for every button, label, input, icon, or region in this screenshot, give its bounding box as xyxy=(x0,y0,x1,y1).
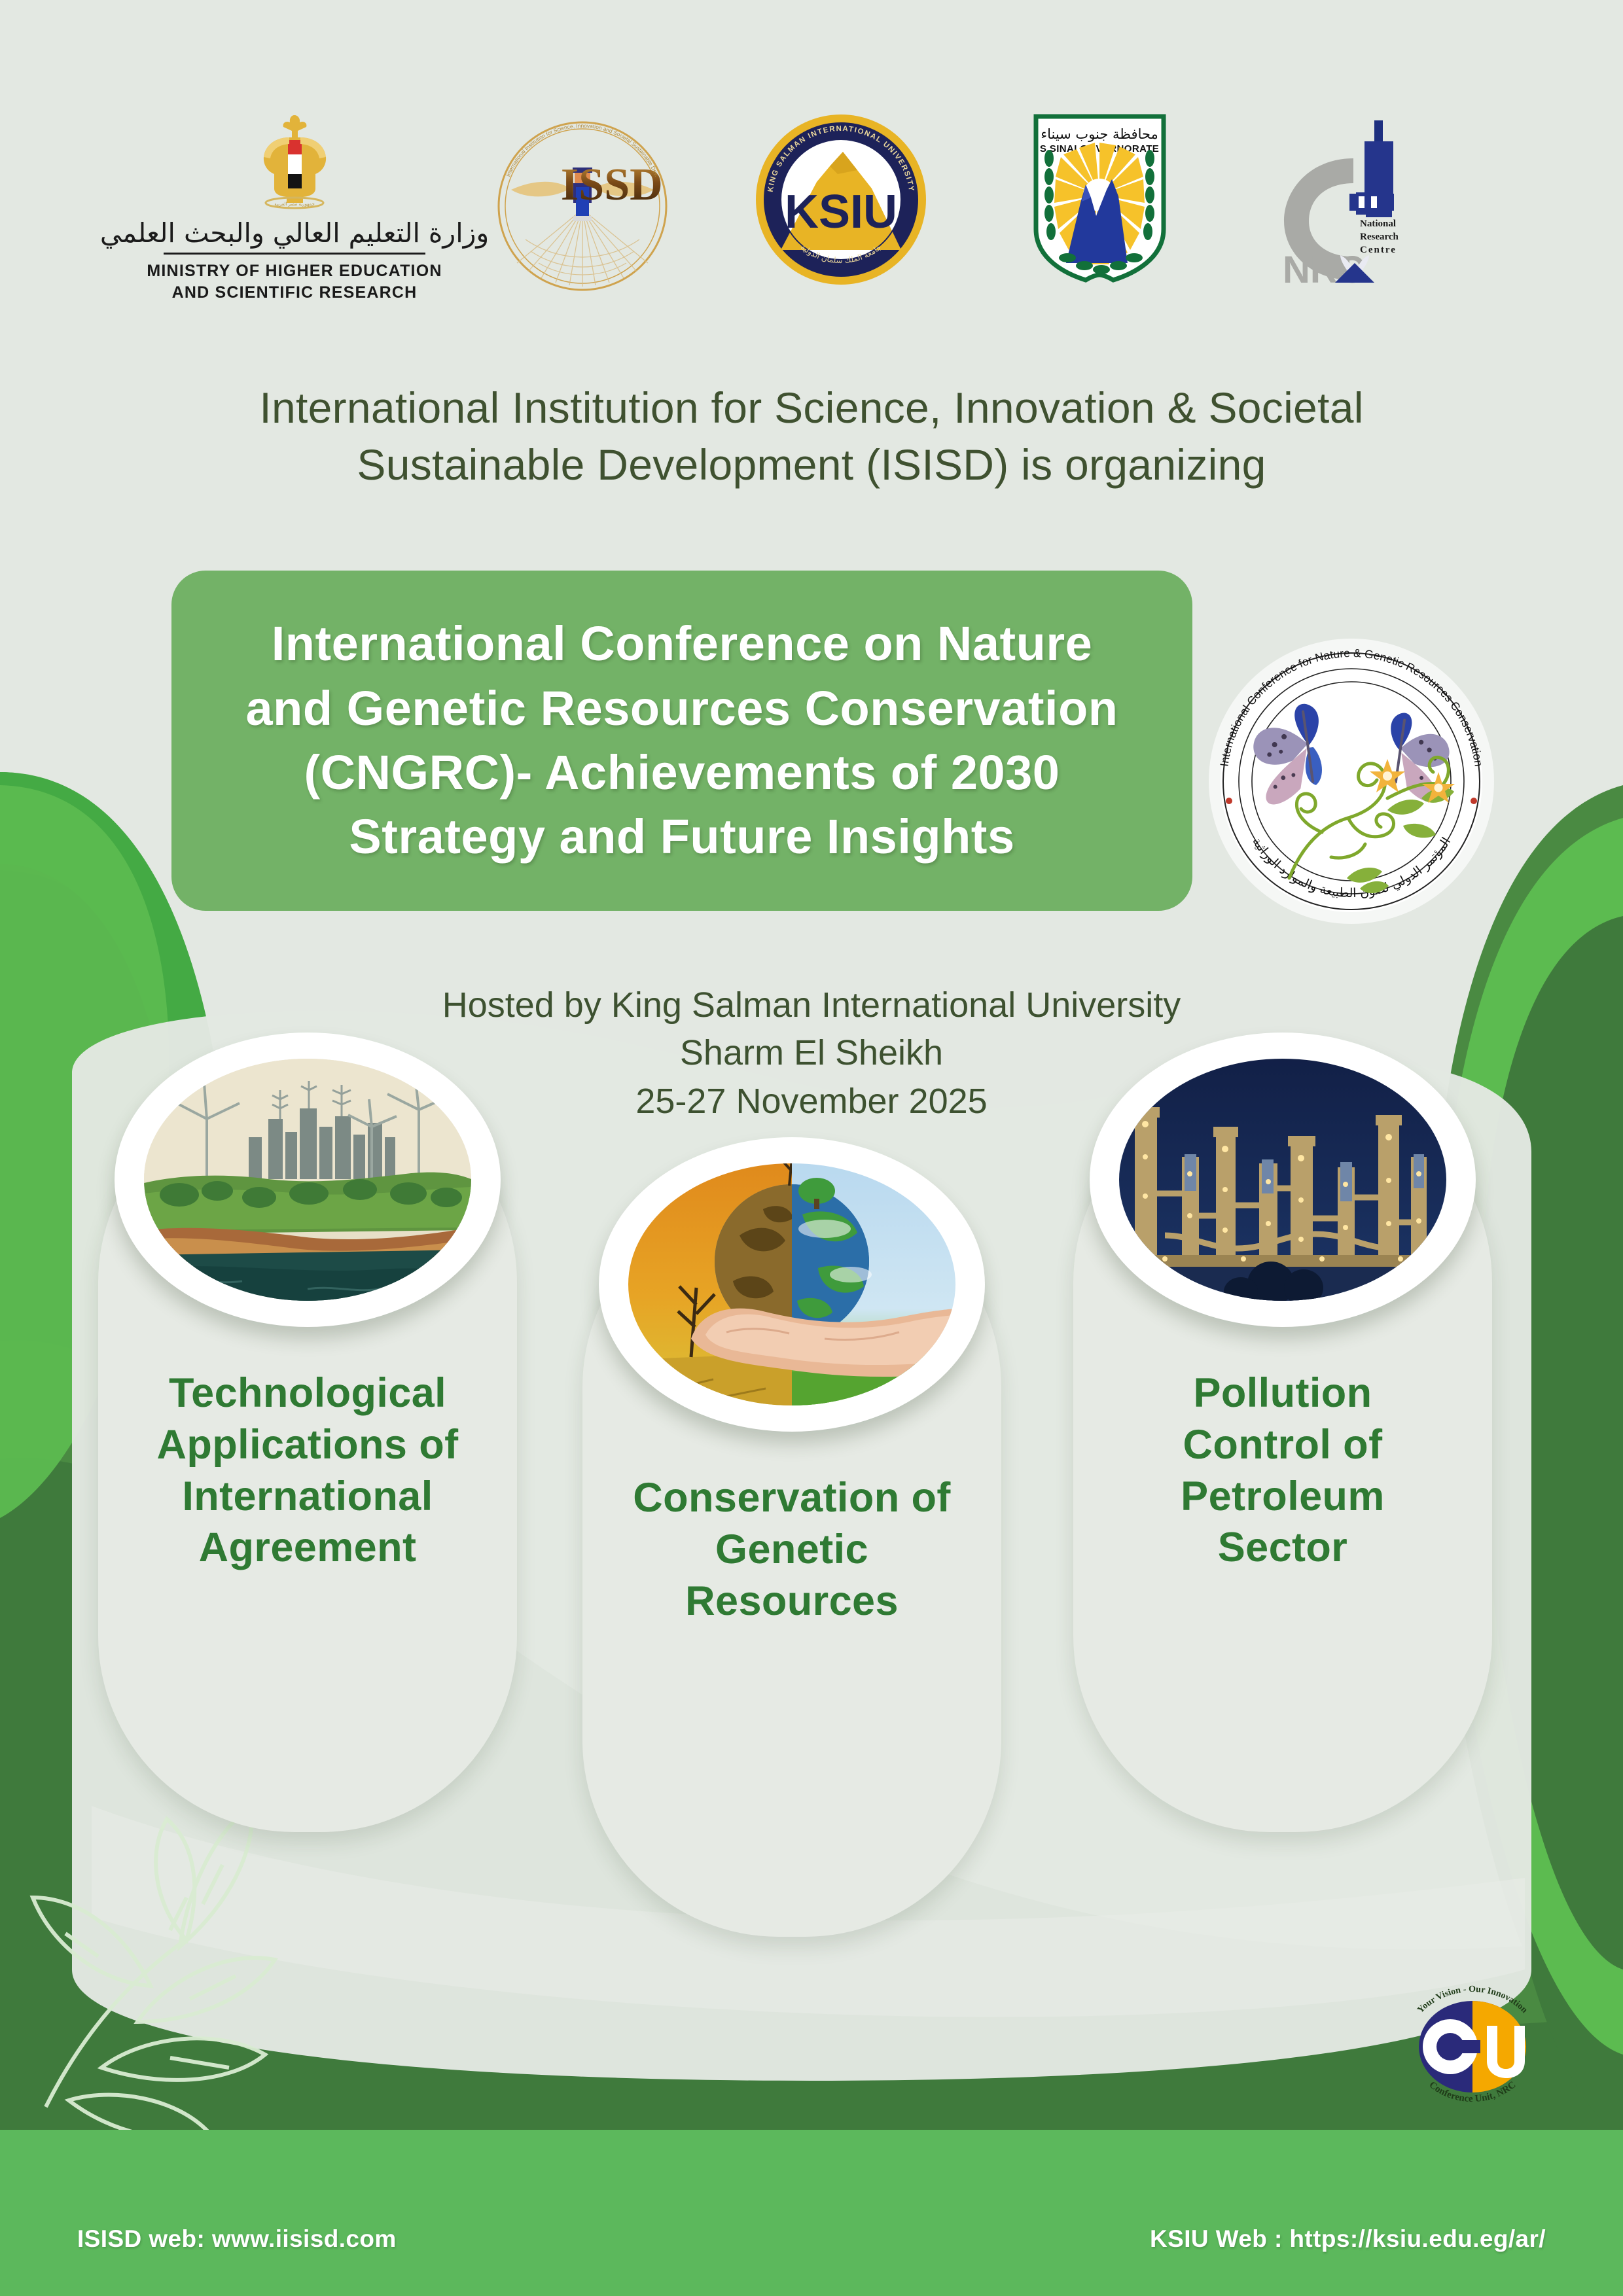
logo-ksiu: KSIU KING SALMAN INTERNATIONAL UNIVERSIT… xyxy=(713,111,969,288)
theme3-line1: Pollution xyxy=(1090,1368,1475,1419)
theme3-line3: Petroleum xyxy=(1090,1471,1475,1523)
svg-text:جمهورية مصر العربية: جمهورية مصر العربية xyxy=(274,202,315,207)
svg-text:IS: IS xyxy=(561,160,604,210)
host-line-1: Hosted by King Salman International Univ… xyxy=(0,981,1623,1029)
theme-title-technological-applications: Technological Applications of Internatio… xyxy=(98,1368,517,1574)
footer-bar: ISISD web: www.iisisd.com KSIU Web : htt… xyxy=(0,2130,1623,2296)
nrc-line1: National xyxy=(1360,219,1396,229)
footer-isisd-website[interactable]: ISISD web: www.iisisd.com xyxy=(77,2225,397,2253)
theme-image-petroleum-refinery xyxy=(1119,1059,1446,1301)
ministry-divider xyxy=(164,253,425,255)
ministry-arabic-name: وزارة التعليم العالي والبحث العلمي xyxy=(100,217,489,249)
intro-line-2: Sustainable Development (ISISD) is organ… xyxy=(0,436,1623,493)
title-line-3: (CNGRC)- Achievements of 2030 xyxy=(200,741,1164,805)
theme-image-green-island xyxy=(144,1059,471,1301)
nrc-logo-icon: National Research Centre NRC xyxy=(1276,111,1440,285)
theme-image-split-earth-in-hand xyxy=(628,1163,955,1405)
page-title: International Conference on Nature and G… xyxy=(200,612,1164,870)
conference-unit-nrc-logo-icon: Your Vision - Our Innovation Conference … xyxy=(1394,1969,1551,2120)
logo-national-research-centre: National Research Centre NRC xyxy=(1230,111,1486,285)
nrc-line2: Research xyxy=(1360,232,1399,242)
theme2-line3: Resources xyxy=(599,1576,984,1627)
ksiu-badge-icon: KSIU KING SALMAN INTERNATIONAL UNIVERSIT… xyxy=(753,111,929,288)
conference-title-banner: International Conference on Nature and G… xyxy=(171,571,1192,911)
theme3-line4: Sector xyxy=(1090,1522,1475,1574)
conference-poster: جمهورية مصر العربية وزارة التعليم العالي… xyxy=(0,0,1623,2296)
title-line-1: International Conference on Nature xyxy=(200,612,1164,676)
theme1-line4: Agreement xyxy=(115,1522,500,1574)
ministry-english-line2: AND SCIENTIFIC RESEARCH xyxy=(147,282,442,304)
logo-isisd: IS SD International Institution for Scie… xyxy=(452,111,713,301)
theme-photo-ring xyxy=(115,1033,501,1327)
sinai-arabic-name: محافظة جنوب سيناء xyxy=(1041,126,1158,142)
ministry-english-line1: MINISTRY OF HIGHER EDUCATION xyxy=(147,260,442,282)
footer-ksiu-website[interactable]: KSIU Web : https://ksiu.edu.eg/ar/ xyxy=(1150,2225,1546,2253)
partner-logo-row: جمهورية مصر العربية وزارة التعليم العالي… xyxy=(0,111,1623,347)
logo-south-sinai-governorate: محافظة جنوب سيناء S.SINAI GOVERNORATE xyxy=(969,111,1230,288)
theme2-line2: Genetic xyxy=(599,1524,984,1576)
theme-title-conservation-genetic-resources: Conservation of Genetic Resources xyxy=(582,1472,1001,1627)
south-sinai-shield-icon: محافظة جنوب سيناء S.SINAI GOVERNORATE xyxy=(1029,111,1170,288)
nrc-line3: Centre xyxy=(1360,245,1397,255)
title-line-2: and Genetic Resources Conservation xyxy=(200,677,1164,741)
theme-card-conservation-genetic-resources[interactable]: Conservation of Genetic Resources xyxy=(582,1191,1001,1937)
theme-card-pollution-control-petroleum[interactable]: Pollution Control of Petroleum Sector xyxy=(1073,1086,1492,1832)
theme2-line1: Conservation of xyxy=(599,1472,984,1524)
theme3-line2: Control of xyxy=(1090,1419,1475,1471)
theme1-line2: Applications of xyxy=(115,1419,500,1471)
title-line-4: Strategy and Future Insights xyxy=(200,805,1164,869)
theme1-line3: International xyxy=(115,1471,500,1523)
theme-title-pollution-control-petroleum: Pollution Control of Petroleum Sector xyxy=(1073,1368,1492,1574)
ksiu-wordmark: KSIU xyxy=(785,186,897,238)
cngrc-conference-emblem-icon: International Conference for Nature & Ge… xyxy=(1191,629,1512,930)
theme-photo-ring xyxy=(599,1137,985,1432)
theme1-line1: Technological xyxy=(115,1368,500,1419)
egypt-eagle-emblem-icon: جمهورية مصر العربية xyxy=(257,111,332,209)
isisd-badge-icon: IS SD International Institution for Scie… xyxy=(488,111,677,301)
theme-card-technological-applications[interactable]: Technological Applications of Internatio… xyxy=(98,1086,517,1832)
organizer-intro-text: International Institution for Science, I… xyxy=(0,380,1623,493)
intro-line-1: International Institution for Science, I… xyxy=(0,380,1623,436)
logo-ministry-of-higher-education: جمهورية مصر العربية وزارة التعليم العالي… xyxy=(137,111,452,304)
theme-photo-ring xyxy=(1090,1033,1476,1327)
